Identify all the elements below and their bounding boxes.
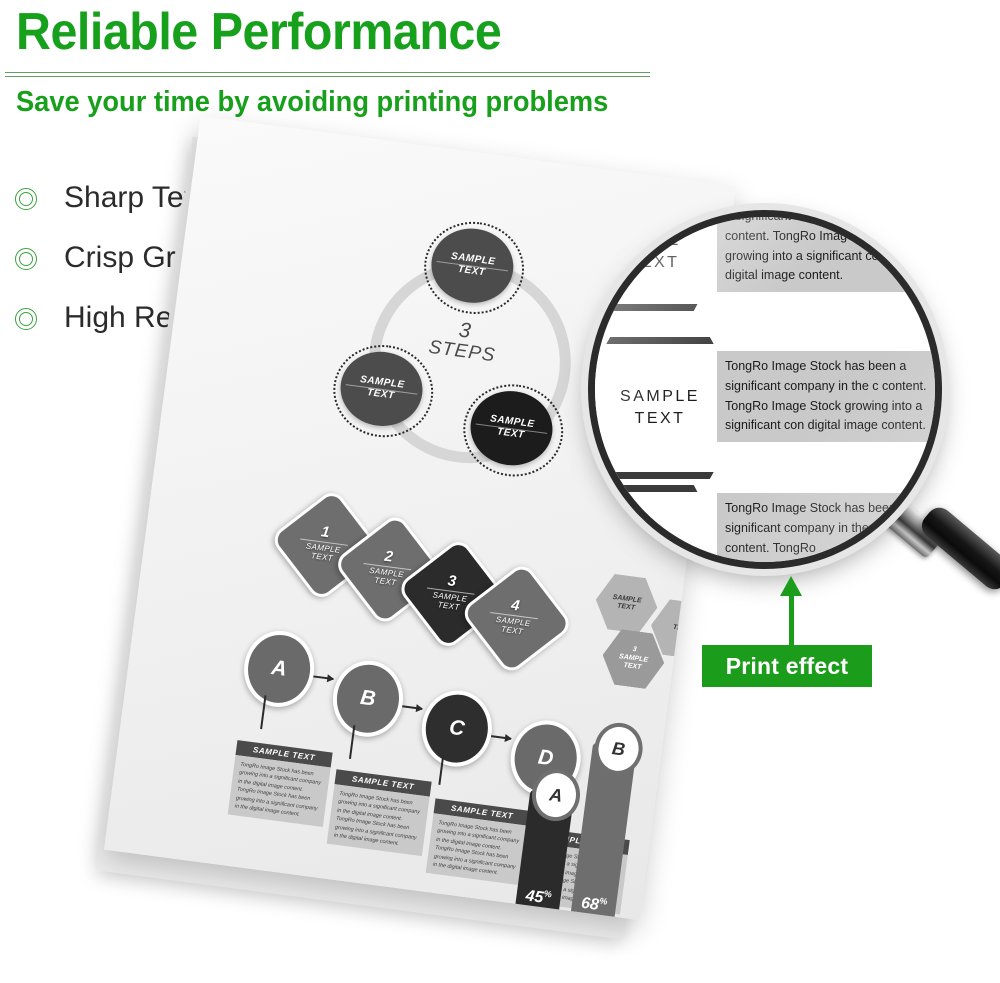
header-banner: Reliable Performance Save your time by a… [0,0,1000,140]
magnified-text-bottom: TongRo Image Stock has been a significan… [717,493,942,564]
card-body: TongRo Image Stock has been growing into… [327,784,430,856]
flow-node-label: C [448,716,466,742]
hex-label-2: TEXT [672,624,691,635]
flow-arrow [313,675,333,680]
double-circle-icon [12,301,46,335]
magnified-text-top: a significant company in the digital ima… [717,210,942,292]
text-card: SAMPLE TEXT TongRo Image Stock has been … [228,740,333,827]
mg-hex-label-1: MPLE [627,533,681,555]
text-card: SAMPLE TEXT TongRo Image Stock has been … [426,798,531,885]
card-body: TongRo Image Stock has been growing into… [228,755,331,827]
flow-node-label: B [359,686,377,712]
double-circle-icon [12,181,46,215]
hex-label-2: TEXT [623,662,642,671]
flow-node: B [328,657,407,741]
magnified-text-mid: TongRo Image Stock has been a significan… [717,351,942,442]
mg-hex-label-1: SAMPLE [620,386,700,408]
double-circle-icon [12,241,46,275]
magnifier-lens: MPLE TEXT a significant company in the d… [588,210,942,569]
flow-node-label: A [270,656,288,682]
mg-hex-label-2: TEXT [629,252,680,274]
cycle-diagram: 3 STEPS SAMPLE TEXT SAMPLE TEXT [327,217,596,486]
bar-a-category: A [548,784,564,807]
callout-badge: Print effect [702,645,872,687]
flow-arrow [402,705,422,710]
flow-node: A [239,627,318,711]
page-title: Reliable Performance [16,2,501,62]
magnified-content: MPLE TEXT a significant company in the d… [589,211,941,568]
mg-hex-label-2: TEXT [635,408,686,430]
page-subtitle: Save your time by avoiding printing prob… [16,86,608,119]
magnifying-glass: MPLE TEXT a significant company in the d… [588,210,1000,610]
callout-label: Print effect [726,653,849,680]
text-card: SAMPLE TEXT TongRo Image Stock has been … [327,769,432,856]
divider-line-top [5,72,650,73]
divider-line-bottom [5,76,650,77]
magnified-hexagon-bottom: MPLE [588,485,725,569]
title-divider [5,72,650,77]
print-effect-callout: Print effect [697,570,877,670]
flow-arrow [491,735,511,740]
mg-hex-label-1: MPLE [627,230,681,252]
step-diamond-chain: 1 SAMPLE TEXT 2 SAMPLE TEXT 3 SAMPLE TEX… [277,491,620,653]
magnified-hexagon-top: MPLE TEXT [588,210,725,311]
card-body: TongRo Image Stock has been growing into… [426,813,529,885]
hex-number: 3 [632,646,637,653]
